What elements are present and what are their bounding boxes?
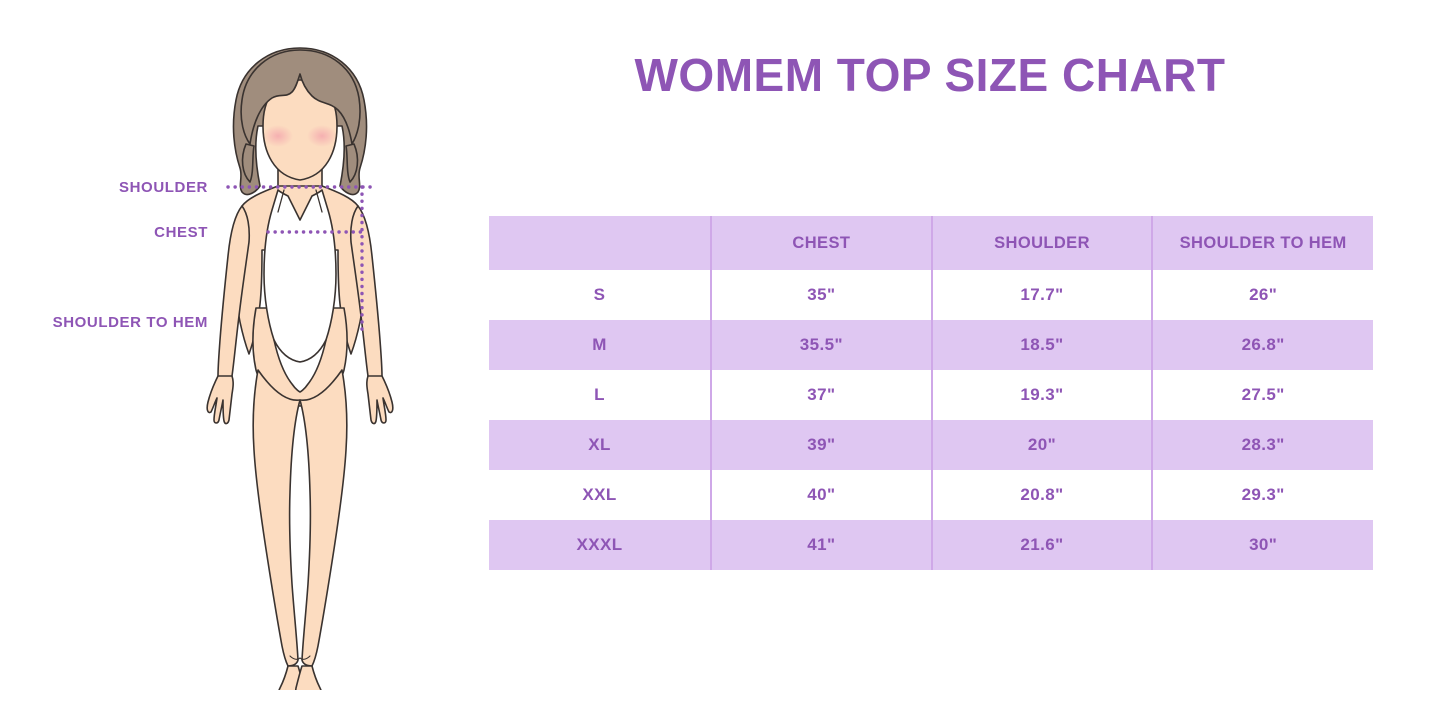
cell-chest: 35.5" (711, 320, 932, 370)
cell-shoulder-to-hem: 29.3" (1152, 470, 1373, 520)
cell-shoulder: 18.5" (932, 320, 1153, 370)
cell-size: XL (489, 420, 711, 470)
header-size (489, 216, 711, 270)
table-row: XL 39" 20" 28.3" (489, 420, 1373, 470)
cell-shoulder-to-hem: 27.5" (1152, 370, 1373, 420)
leg-right (300, 370, 347, 666)
table-row: M 35.5" 18.5" 26.8" (489, 320, 1373, 370)
cell-size: XXXL (489, 520, 711, 570)
blush-right (307, 125, 337, 147)
table-header-row: CHEST SHOULDER SHOULDER TO HEM (489, 216, 1373, 270)
hand-right (367, 376, 393, 424)
header-shoulder: SHOULDER (932, 216, 1153, 270)
hand-left (207, 376, 233, 424)
cell-chest: 39" (711, 420, 932, 470)
cell-size: S (489, 270, 711, 320)
label-shoulder: SHOULDER (0, 179, 208, 196)
cell-shoulder: 20" (932, 420, 1153, 470)
table-row: L 37" 19.3" 27.5" (489, 370, 1373, 420)
cell-chest: 41" (711, 520, 932, 570)
label-chest: CHEST (0, 224, 208, 241)
table-row: XXL 40" 20.8" 29.3" (489, 470, 1373, 520)
cell-shoulder: 19.3" (932, 370, 1153, 420)
header-shoulder-to-hem: SHOULDER TO HEM (1152, 216, 1373, 270)
cell-chest: 35" (711, 270, 932, 320)
cell-shoulder-to-hem: 30" (1152, 520, 1373, 570)
cell-chest: 40" (711, 470, 932, 520)
table-row: S 35" 17.7" 26" (489, 270, 1373, 320)
cell-shoulder: 21.6" (932, 520, 1153, 570)
cell-size: M (489, 320, 711, 370)
size-chart-table: CHEST SHOULDER SHOULDER TO HEM S 35" 17.… (489, 216, 1373, 570)
cell-shoulder: 17.7" (932, 270, 1153, 320)
cell-size: XXL (489, 470, 711, 520)
cell-shoulder: 20.8" (932, 470, 1153, 520)
cell-size: L (489, 370, 711, 420)
size-chart-table-container: CHEST SHOULDER SHOULDER TO HEM S 35" 17.… (489, 216, 1373, 570)
cell-chest: 37" (711, 370, 932, 420)
blush-left (263, 125, 293, 147)
header-chest: CHEST (711, 216, 932, 270)
female-body-diagram (150, 40, 450, 690)
cell-shoulder-to-hem: 26.8" (1152, 320, 1373, 370)
leg-left (253, 370, 300, 666)
label-shoulder-to-hem: SHOULDER TO HEM (0, 314, 208, 331)
page-title: WOMEM TOP SIZE CHART (480, 48, 1380, 102)
cell-shoulder-to-hem: 26" (1152, 270, 1373, 320)
model-figure-illustration (150, 40, 450, 690)
table-row: XXXL 41" 21.6" 30" (489, 520, 1373, 570)
cell-shoulder-to-hem: 28.3" (1152, 420, 1373, 470)
